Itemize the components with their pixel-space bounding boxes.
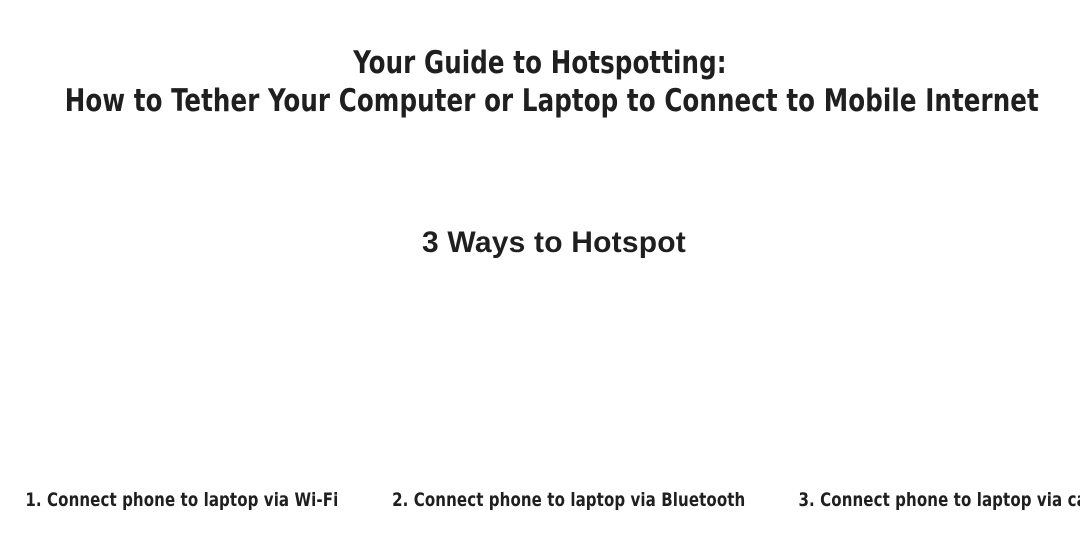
step-item-3: 3. Connect phone to laptop via cable — [773, 488, 1080, 512]
step-caption-1: 1. Connect phone to laptop via Wi-Fi — [25, 488, 338, 512]
illustration-wifi — [0, 280, 360, 480]
infographic-page: Your Guide to Hotspotting: How to Tether… — [0, 0, 1080, 552]
step-item-2: 2. Connect phone to laptop via Bluetooth — [364, 488, 773, 512]
section-heading: 3 Ways to Hotspot — [0, 225, 1080, 261]
section-heading-label: 3 Ways to Hotspot — [422, 225, 686, 261]
page-title-line-1: Your Guide to Hotspotting: — [65, 44, 1015, 82]
step-caption-3: 3. Connect phone to laptop via cable — [799, 488, 1080, 512]
page-title-line-2: How to Tether Your Computer or Laptop to… — [65, 82, 1015, 120]
step-caption-row: 1. Connect phone to laptop via Wi-Fi 2. … — [0, 488, 1080, 512]
illustration-bluetooth — [360, 280, 720, 480]
step-caption-2: 2. Connect phone to laptop via Bluetooth — [392, 488, 745, 512]
illustration-row — [0, 280, 1080, 480]
illustration-cable — [720, 280, 1080, 480]
step-item-1: 1. Connect phone to laptop via Wi-Fi — [0, 488, 364, 512]
page-title: Your Guide to Hotspotting: How to Tether… — [0, 44, 1080, 120]
